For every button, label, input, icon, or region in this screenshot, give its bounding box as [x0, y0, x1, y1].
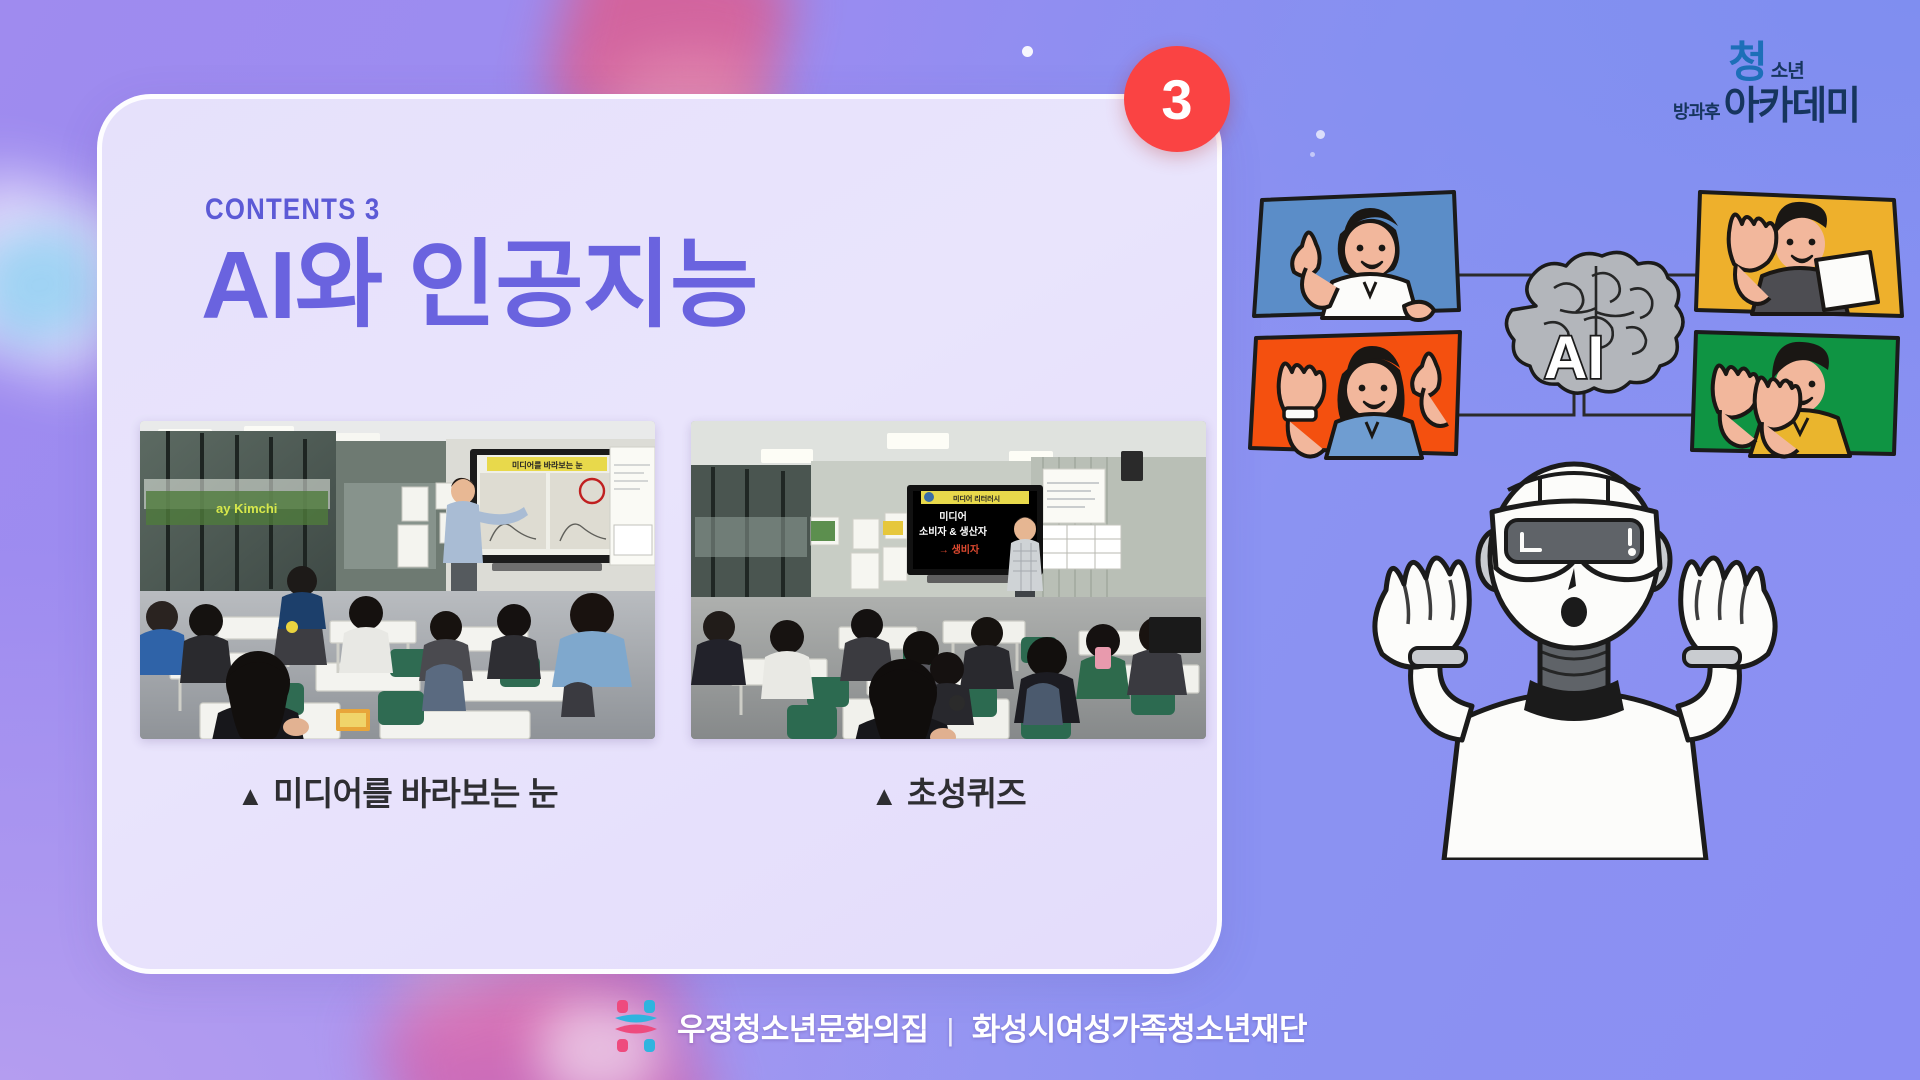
photo-caption-1: ▲미디어를 바라보는 눈: [140, 767, 655, 815]
panel-top-left: [1254, 192, 1459, 320]
footer-separator: |: [946, 1012, 953, 1047]
ai-illustration: AI: [1244, 160, 1904, 860]
slide-root: CONTENTS 3 AI와 인공지능: [0, 0, 1920, 1080]
footer: 우정청소년문화의집 | 화성시여성가족청소년재단: [0, 998, 1920, 1054]
footer-text: 우정청소년문화의집 | 화성시여성가족청소년재단: [677, 1004, 1307, 1049]
page-title: AI와 인공지능: [201, 225, 757, 348]
academy-logo-cheong: 청: [1728, 42, 1766, 85]
svg-text:소비자 & 생산자: 소비자 & 생산자: [919, 525, 988, 538]
photo-caption-2-text: 초성퀴즈: [907, 775, 1026, 812]
photo-item-1: ay Kimchi: [140, 421, 655, 815]
academy-logo-sonyeon: 소년: [1771, 62, 1804, 85]
classroom-photo-2[interactable]: 미디어 리터러시 미디어 소비자 & 생산자 → 생비자: [691, 421, 1206, 739]
decor-dot-1: [1022, 46, 1033, 57]
content-card: CONTENTS 3 AI와 인공지능: [97, 94, 1222, 974]
panel-bottom-right: [1692, 332, 1898, 457]
panel-top-right: [1696, 192, 1902, 316]
academy-logo-row-2: 방과후 아카데미: [1658, 87, 1874, 126]
panel-bottom-left: [1250, 332, 1460, 458]
academy-logo: 청 소년 방과후 아카데미: [1658, 42, 1874, 126]
triangle-marker-icon: ▲: [237, 781, 263, 811]
photo-gallery: ay Kimchi: [140, 421, 1206, 815]
decor-dot-2: [1316, 130, 1325, 139]
academy-logo-row-1: 청 소년: [1658, 42, 1874, 85]
section-number-text: 3: [1161, 67, 1192, 132]
vr-robot: [1375, 464, 1775, 860]
footer-org-right: 화성시여성가족청소년재단: [972, 1012, 1307, 1047]
academy-logo-academy: 아카데미: [1724, 87, 1860, 126]
section-eyebrow: CONTENTS 3: [205, 193, 380, 227]
ai-brain-icon: AI: [1506, 252, 1683, 393]
academy-logo-banggwahu: 방과후: [1673, 103, 1720, 126]
triangle-marker-icon: ▲: [871, 781, 897, 811]
decor-blob-cyan-left: [0, 217, 112, 353]
photo-caption-1-text: 미디어를 바라보는 눈: [273, 775, 558, 812]
svg-text:미디어를 바라보는 눈: 미디어를 바라보는 눈: [512, 460, 583, 470]
footer-brand-logo-icon: [613, 998, 659, 1054]
photo-item-2: 미디어 리터러시 미디어 소비자 & 생산자 → 생비자: [691, 421, 1206, 815]
svg-text:미디어: 미디어: [939, 510, 967, 523]
ai-label: AI: [1544, 324, 1604, 391]
section-number-badge: 3: [1124, 46, 1230, 152]
svg-text:미디어 리터러시: 미디어 리터러시: [953, 494, 1000, 503]
classroom-photo-1[interactable]: ay Kimchi: [140, 421, 655, 739]
footer-org-left: 우정청소년문화의집: [677, 1012, 928, 1047]
svg-text:ay Kimchi: ay Kimchi: [216, 501, 277, 516]
photo-caption-2: ▲초성퀴즈: [691, 767, 1206, 815]
decor-dot-3: [1310, 152, 1315, 157]
svg-text:→ 생비자: → 생비자: [939, 543, 980, 556]
